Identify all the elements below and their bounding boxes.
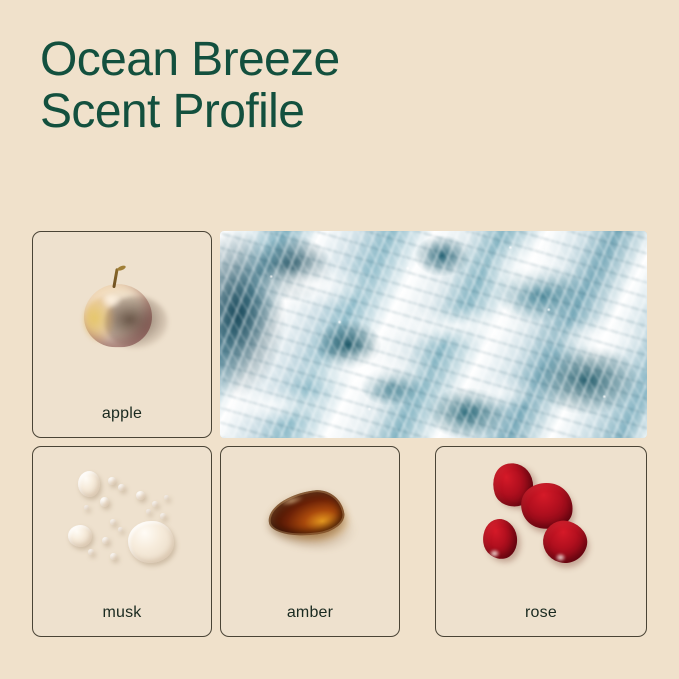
droplet bbox=[128, 521, 174, 563]
page-title-line-1: Ocean Breeze bbox=[40, 34, 460, 86]
amber-resin-icon bbox=[260, 485, 360, 549]
scent-card-label-apple: apple bbox=[33, 405, 211, 423]
scent-card-label-rose: rose bbox=[436, 604, 646, 622]
scent-card-amber[interactable]: amber bbox=[220, 446, 400, 637]
scent-card-ocean[interactable] bbox=[220, 231, 647, 438]
rose-petals-icon bbox=[479, 461, 603, 577]
droplet bbox=[152, 501, 158, 507]
droplet bbox=[88, 549, 94, 555]
droplet bbox=[102, 537, 109, 544]
amber-image bbox=[221, 447, 399, 590]
apple-image bbox=[33, 232, 211, 391]
apple-icon bbox=[74, 264, 170, 356]
droplet bbox=[100, 497, 109, 507]
ocean-speckle bbox=[220, 231, 647, 438]
scent-note-grid: apple bbox=[32, 231, 647, 637]
page-title: Ocean Breeze Scent Profile bbox=[40, 34, 460, 138]
rose-petal-tip bbox=[555, 553, 566, 562]
scent-card-label-amber: amber bbox=[221, 604, 399, 622]
scent-card-label-musk: musk bbox=[33, 604, 211, 622]
ocean-foam-image bbox=[220, 231, 647, 438]
droplet bbox=[164, 495, 169, 500]
droplet bbox=[118, 484, 125, 491]
apple-highlight bbox=[102, 294, 122, 309]
scent-card-musk[interactable]: musk bbox=[32, 446, 212, 637]
droplet bbox=[146, 509, 151, 514]
rose-petal bbox=[480, 516, 519, 560]
page-title-line-2: Scent Profile bbox=[40, 86, 460, 138]
droplet bbox=[136, 491, 145, 500]
droplet bbox=[110, 519, 116, 525]
scent-card-apple[interactable]: apple bbox=[32, 231, 212, 438]
droplet bbox=[118, 527, 123, 532]
water-droplets-icon bbox=[60, 467, 184, 571]
droplet bbox=[108, 477, 116, 485]
rose-petal-tip bbox=[489, 549, 500, 558]
apple-stem-tip bbox=[117, 264, 127, 271]
droplet bbox=[84, 505, 89, 510]
scent-card-rose[interactable]: rose bbox=[435, 446, 647, 637]
droplet bbox=[160, 513, 166, 519]
rose-image bbox=[436, 447, 646, 590]
droplet bbox=[110, 553, 117, 560]
droplet bbox=[68, 525, 92, 547]
musk-image bbox=[33, 447, 211, 590]
droplet bbox=[78, 471, 100, 497]
